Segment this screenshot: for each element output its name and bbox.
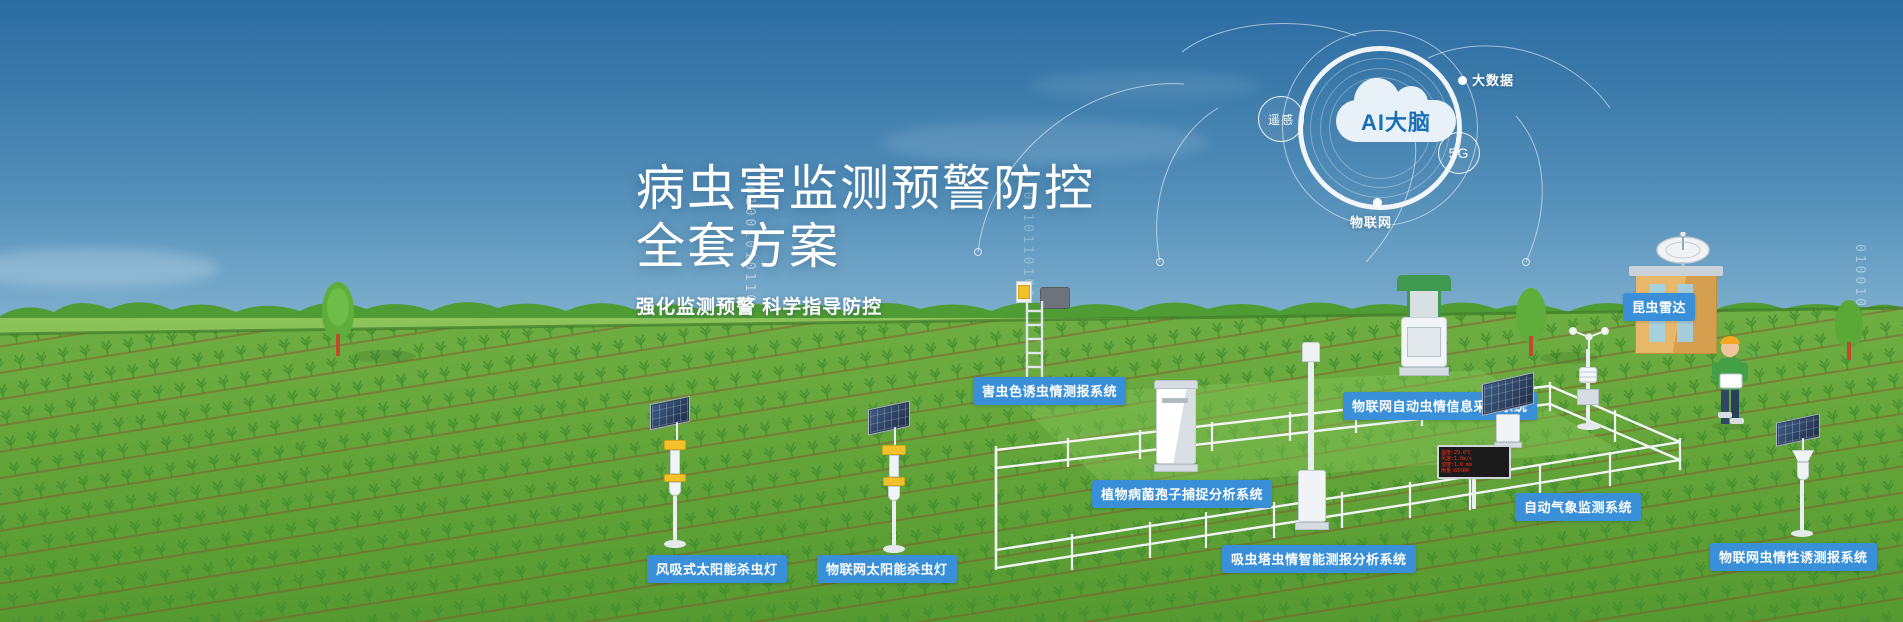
device-spore-capture-cabinet[interactable] xyxy=(1152,380,1212,490)
support-pole xyxy=(892,501,896,549)
node-bigdata-label: 大数据 xyxy=(1472,70,1514,89)
ai-brain-cloud: AI大脑 xyxy=(1336,100,1456,142)
tower-cabinet xyxy=(1298,470,1326,522)
label-iot-pheromone-forecast-system[interactable]: 物联网虫情性诱测报系统 xyxy=(1710,543,1877,571)
lamp-head xyxy=(664,440,686,450)
device-iot-solar-lamp[interactable] xyxy=(860,405,940,555)
ai-brain-cluster: AI大脑 遥感 5G 大数据 物联网 xyxy=(1130,22,1610,252)
support-pole xyxy=(673,496,677,544)
support-pole xyxy=(1800,480,1804,532)
cabinet-top xyxy=(1154,380,1198,389)
label-color-lure-pest-forecast-system[interactable]: 害虫色诱虫情测报系统 xyxy=(973,377,1126,405)
lamp-tube xyxy=(670,450,680,474)
mount-arm xyxy=(676,422,678,442)
collection-cup xyxy=(888,486,900,501)
led-row-4: 雨量:65%RH xyxy=(1439,468,1509,474)
pole-base xyxy=(883,545,905,553)
device-wind-suction-solar-lamp[interactable] xyxy=(640,400,720,550)
node-5g-label: 5G xyxy=(1449,145,1470,161)
battery-cabinet xyxy=(1496,414,1520,442)
tree-shadow xyxy=(352,350,416,363)
node-remote-sensing-label: 遥感 xyxy=(1268,111,1294,128)
solar-panel xyxy=(868,401,910,436)
label-wind-suction-solar-insect-lamp[interactable]: 风吸式太阳能杀虫灯 xyxy=(647,555,787,583)
weather-led-board[interactable]: 温度:29.0℃ 风速:1.6m/s 湿度:1.0 mm 雨量:65%RH xyxy=(1437,445,1527,515)
pole-base xyxy=(1791,530,1813,537)
cabinet-base xyxy=(1154,464,1198,472)
tower-mast xyxy=(1308,362,1314,470)
radiation-shield xyxy=(1579,367,1597,383)
label-insect-radar[interactable]: 昆虫雷达 xyxy=(1623,293,1695,321)
device-color-lure-tower[interactable] xyxy=(1008,275,1088,385)
collection-ring xyxy=(883,477,905,486)
board-pole xyxy=(1472,479,1476,509)
mount-arm xyxy=(894,427,896,447)
ladder-mast xyxy=(1022,301,1048,385)
solar-panel xyxy=(1776,413,1820,446)
mount-arm xyxy=(1802,438,1804,452)
lamp-head xyxy=(882,445,906,455)
label-iot-solar-insect-lamp[interactable]: 物联网太阳能杀虫灯 xyxy=(817,555,957,583)
decor-tree-left xyxy=(318,282,358,360)
solar-panel xyxy=(1482,372,1534,416)
lamp-cage xyxy=(1407,291,1441,317)
tower-head xyxy=(1302,342,1320,362)
station-datalogger xyxy=(1577,389,1599,405)
anemometer xyxy=(1567,325,1611,351)
ai-brain-label: AI大脑 xyxy=(1361,105,1431,137)
node-bigdata-dot xyxy=(1458,76,1467,85)
tower-base xyxy=(1295,522,1329,530)
collector-door xyxy=(1407,327,1441,357)
led-display: 温度:29.0℃ 风速:1.6m/s 湿度:1.0 mm 雨量:65%RH xyxy=(1437,445,1511,479)
sticky-board xyxy=(1018,285,1030,299)
lamp-tube xyxy=(889,455,899,477)
worker-figure xyxy=(1700,330,1760,430)
node-5g[interactable]: 5G xyxy=(1438,132,1480,174)
station-mast xyxy=(1586,349,1590,425)
device-iot-pest-collector[interactable] xyxy=(1393,275,1473,395)
label-spore-capture-analysis-system[interactable]: 植物病菌孢子捕捉分析系统 xyxy=(1092,480,1272,508)
device-suction-tower[interactable] xyxy=(1290,342,1340,542)
label-suction-tower-forecast-system[interactable]: 吸虫塔虫情智能测报分析系统 xyxy=(1222,545,1416,573)
building-roof xyxy=(1629,266,1723,276)
node-iot-label: 物联网 xyxy=(1350,212,1392,231)
infographic-banner: 010010101101001010 0100101101010 0100101… xyxy=(0,0,1903,622)
station-base xyxy=(1577,423,1601,430)
rain-hood xyxy=(1397,275,1451,291)
collection-cup xyxy=(669,482,681,496)
device-iot-pheromone-trap[interactable] xyxy=(1768,418,1848,548)
collection-ring xyxy=(664,474,686,482)
device-weather-station[interactable] xyxy=(1545,325,1635,445)
intake-vent xyxy=(1162,398,1188,403)
node-iot-dot xyxy=(1373,198,1382,207)
trap-funnel xyxy=(1792,450,1814,462)
collection-bottle xyxy=(1797,462,1809,480)
collector-base xyxy=(1399,367,1449,376)
pole-base xyxy=(664,540,686,548)
solar-panel xyxy=(650,396,690,431)
node-remote-sensing[interactable]: 遥感 xyxy=(1258,96,1304,142)
label-auto-weather-monitoring-system[interactable]: 自动气象监测系统 xyxy=(1515,493,1641,521)
decor-tree-right-2 xyxy=(1832,300,1866,364)
field-worker xyxy=(1700,330,1760,430)
